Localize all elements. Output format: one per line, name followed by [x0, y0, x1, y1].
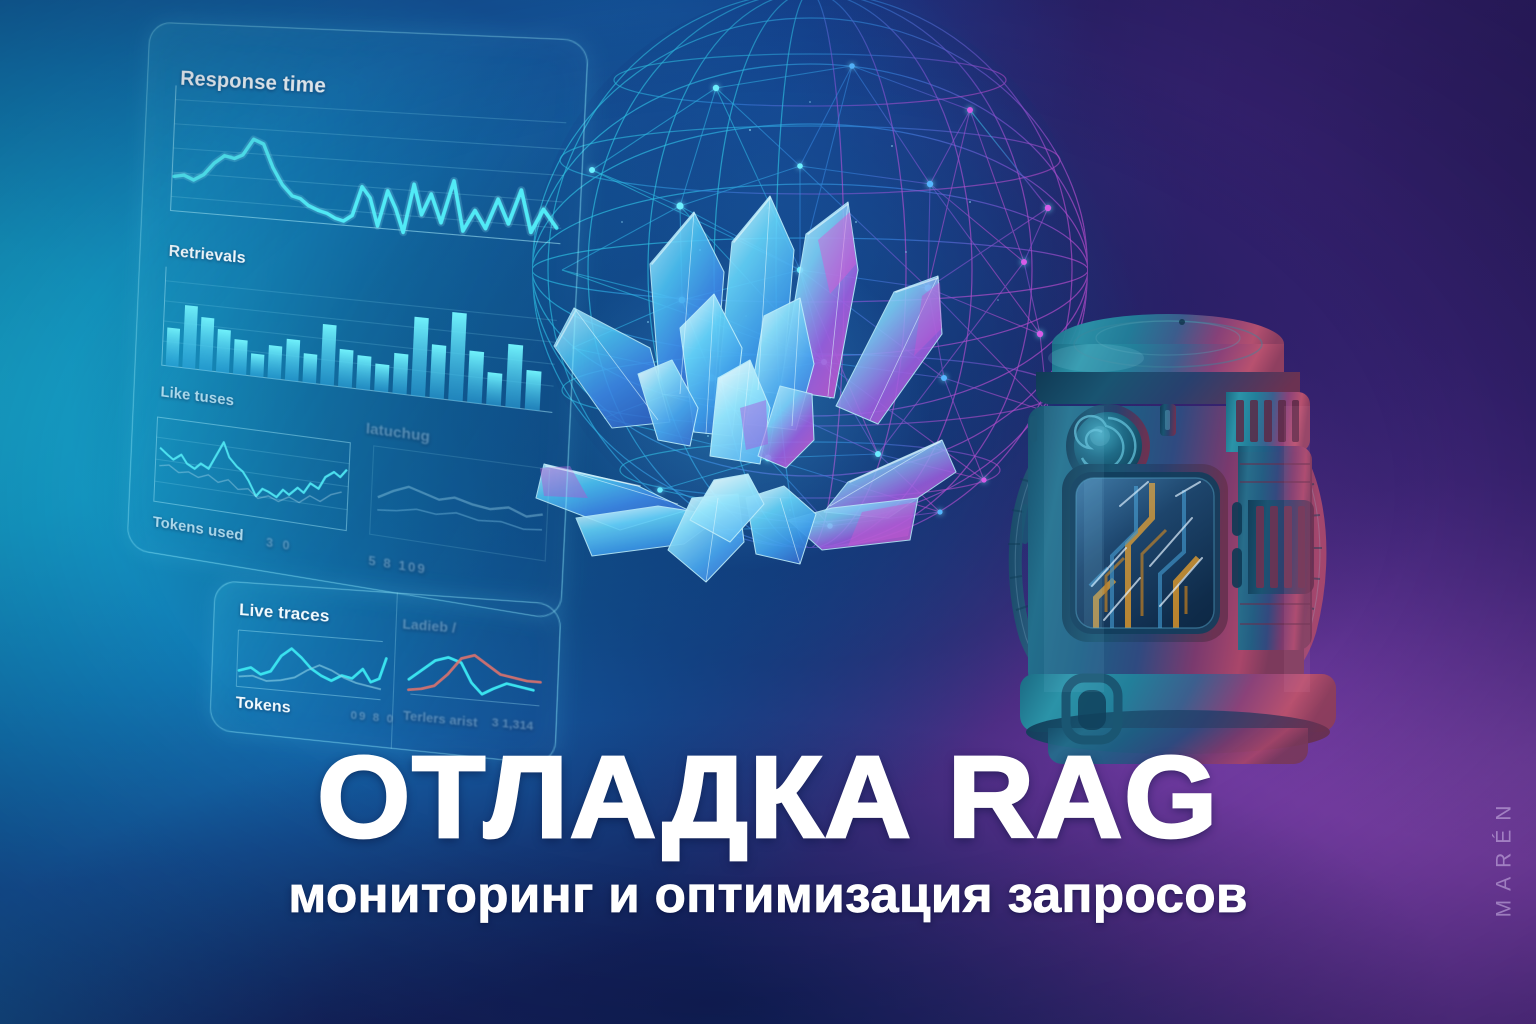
chart-live-traces — [236, 630, 387, 700]
chart-response-time — [170, 85, 567, 245]
page-title: ОТЛАДКА RAG — [0, 744, 1536, 851]
poster-canvas: Response time Retrievals Like tuses latu… — [0, 0, 1536, 1024]
chart-latency-ghost — [370, 446, 550, 561]
crystal-lotus-flower — [518, 168, 968, 588]
metrics-dashboard-panel[interactable]: Response time Retrievals Like tuses latu… — [126, 22, 589, 621]
sci-fi-lantern-device — [1000, 286, 1400, 786]
watermark-text: MARÉN — [1492, 797, 1516, 918]
poster-title-block: ОТЛАДКА RAG мониторинг и оптимизация зап… — [0, 744, 1536, 920]
page-subtitle: мониторинг и оптимизация запросов — [0, 869, 1536, 920]
lantern-svg — [1000, 286, 1400, 786]
lotus-svg — [518, 168, 968, 588]
chart-like-tuses — [154, 417, 351, 531]
brand-watermark: MARÉN — [1484, 742, 1524, 972]
